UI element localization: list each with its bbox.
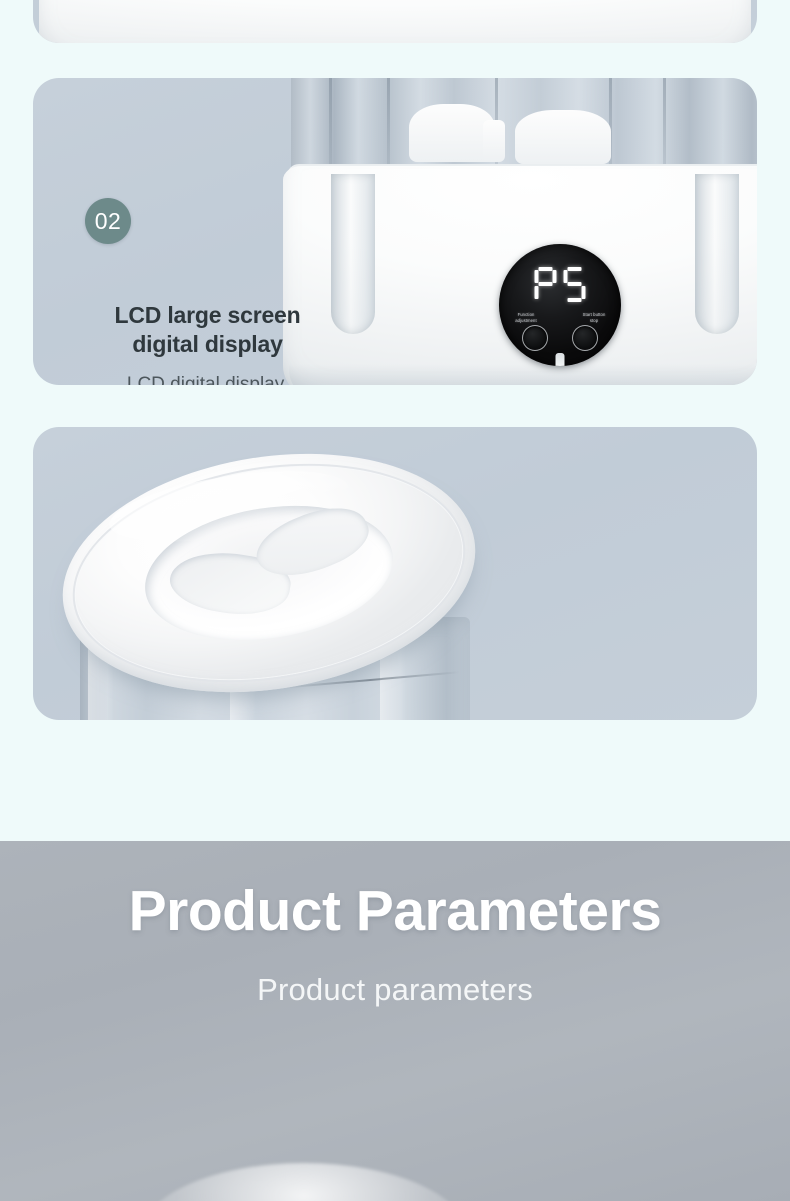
segment-g [539, 282, 553, 286]
segment-a [539, 267, 553, 271]
start-button-label-line2: stop [572, 318, 616, 324]
start-stop-button[interactable] [572, 325, 598, 351]
appliance-groove-left [331, 174, 375, 334]
segment-d [568, 298, 582, 302]
segment-f [564, 270, 568, 283]
segment-g [568, 282, 582, 286]
feature-02-headline: LCD large screen digital display [85, 301, 330, 360]
jar-internal-part [515, 110, 611, 164]
control-panel[interactable]: Function adjustment Start button stop [499, 244, 621, 366]
feature-02-headline-line1: LCD large screen [85, 301, 330, 330]
lcd-digit-p [535, 267, 557, 302]
segment-f [535, 270, 539, 283]
banner-subtitle: Product parameters [0, 972, 790, 1008]
banner-content: Product Parameters Product parameters [0, 841, 790, 1201]
feature-02-subline: LCD digital display, clear at a glance [85, 372, 330, 385]
feature-card-03: 03 Cover design Clothes cleaning without… [33, 427, 757, 720]
appliance-base-partial [39, 0, 751, 43]
feature-card-02: Function adjustment Start button stop 02 [33, 78, 757, 385]
lcd-digit-5 [564, 267, 586, 302]
banner-product-silhouette [139, 1163, 469, 1201]
product-detail-page: Function adjustment Start button stop 02 [0, 0, 790, 1201]
control-button-labels: Function adjustment Start button stop [499, 312, 621, 323]
panel-notch [556, 353, 565, 366]
function-button-label-line2: adjustment [504, 318, 548, 324]
feature-02-headline-line2: digital display [85, 330, 330, 359]
function-button[interactable] [522, 325, 548, 351]
segment-c [582, 286, 586, 299]
feature-02-text: 02 LCD large screen digital display LCD … [85, 198, 330, 385]
feature-number-badge-02: 02 [85, 198, 131, 244]
segment-b [553, 270, 557, 283]
cover-lid-image [33, 427, 757, 720]
banner-title: Product Parameters [0, 878, 790, 944]
segment-a [568, 267, 582, 271]
feature-02-subline-line1: LCD digital display, [85, 372, 330, 385]
appliance-base-shadow [289, 364, 757, 385]
appliance-groove-right [695, 174, 739, 334]
feature-card-partial-top [33, 0, 757, 43]
jar-internal-part [483, 120, 505, 162]
product-parameters-banner: Product Parameters Product parameters [0, 841, 790, 1201]
control-buttons [499, 325, 621, 351]
lcd-display [535, 267, 586, 302]
function-button-label: Function adjustment [504, 312, 548, 323]
segment-e [535, 286, 539, 299]
start-button-label: Start button stop [572, 312, 616, 323]
product-image-partial [33, 0, 757, 43]
